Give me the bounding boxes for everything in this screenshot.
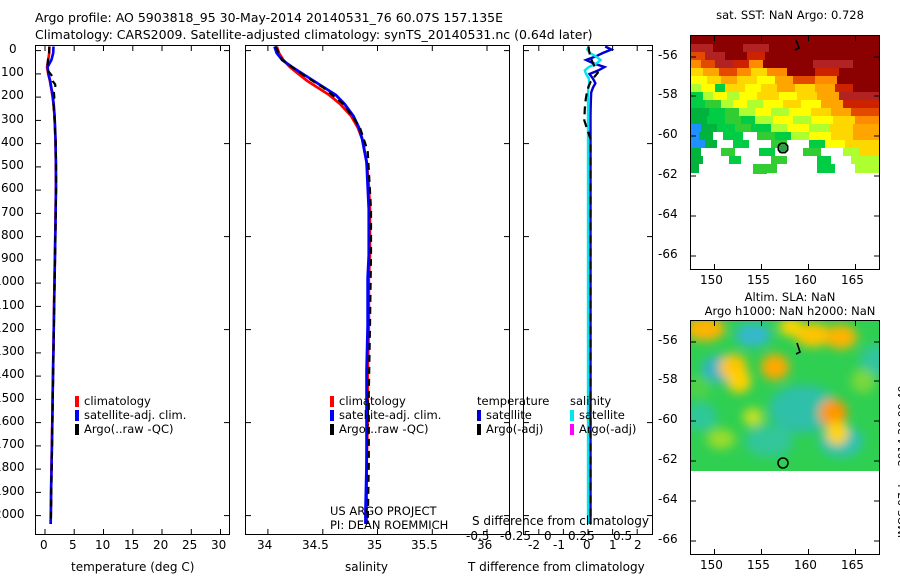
depth-tick-900: 900 <box>1 251 24 265</box>
sla-lat-tick-58: -58 <box>658 372 678 386</box>
legend-label-salinity-argo-adj: Argo(-adj) <box>579 422 636 436</box>
swatch-salinity-argo-adj-icon <box>570 424 574 435</box>
sst-lat-tick-60: -60 <box>658 127 678 141</box>
depth-tick-1000: 1000 <box>0 274 25 288</box>
sla-lat-tick-56: -56 <box>658 333 678 347</box>
sdiff-tick-n025: -0.25 <box>500 529 531 543</box>
temperature-profile-plot <box>36 46 229 534</box>
depth-tick-0: 0 <box>9 42 17 56</box>
legend-item-temperature-argo-adj: Argo(-adj) <box>477 422 549 436</box>
sla-map-title-line1: Altim. SLA: NaN <box>695 290 885 304</box>
swatch-satellite-adj-icon <box>75 410 79 421</box>
legend-item-salinity-argo-adj: Argo(-adj) <box>570 422 636 436</box>
salinity-axis-label: salinity <box>345 560 388 574</box>
swatch-climatology-icon <box>75 396 79 407</box>
salinity-tick-35: 35 <box>367 538 382 552</box>
swatch-temperature-argo-adj-icon <box>477 424 481 435</box>
sst-map-panel[interactable] <box>690 35 880 270</box>
depth-tick-1500: 1500 <box>0 391 25 405</box>
legend-item-satellite-adj-salinity: satellite-adj. clim. <box>330 408 441 422</box>
depth-tick-200: 200 <box>1 88 24 102</box>
legend-title-salinity: salinity <box>570 394 636 408</box>
sla-lon-tick-150: 150 <box>700 558 723 572</box>
depth-tick-1600: 1600 <box>0 414 25 428</box>
sla-lat-tick-66: -66 <box>658 532 678 546</box>
depth-tick-100: 100 <box>1 65 24 79</box>
swatch-argo-raw-icon <box>75 424 79 435</box>
sla-lon-tick-165: 165 <box>841 558 864 572</box>
temperature-profile-panel[interactable] <box>35 45 230 535</box>
legend-label-satellite-adj: satellite-adj. clim. <box>84 408 186 422</box>
sst-lon-tick-165: 165 <box>841 273 864 287</box>
depth-tick-1900: 1900 <box>0 484 25 498</box>
sst-lat-tick-64: -64 <box>658 207 678 221</box>
salinity-tick-345: 34.5 <box>302 538 329 552</box>
legend-label-climatology: climatology <box>84 394 151 408</box>
sst-lon-tick-150: 150 <box>700 273 723 287</box>
depth-tick-1200: 1200 <box>0 321 25 335</box>
swatch-salinity-satellite-icon <box>570 410 574 421</box>
salinity-profile-plot <box>246 46 509 534</box>
sla-map-panel[interactable] <box>690 320 880 555</box>
sdiff-tick-025: 0.25 <box>568 529 595 543</box>
sst-map-plot <box>691 36 879 269</box>
difference-legend-temperature: temperature satellite Argo(-adj) <box>477 394 549 436</box>
temperature-difference-axis-label: T difference from climatology <box>468 560 645 574</box>
temperature-axis-label: temperature (deg C) <box>71 560 194 574</box>
sla-lat-tick-62: -62 <box>658 452 678 466</box>
legend-title-temperature: temperature <box>477 394 549 408</box>
tdiff-tick-1: 1 <box>609 538 617 552</box>
tdiff-tick-2: 2 <box>634 538 642 552</box>
legend-label-climatology: climatology <box>339 394 406 408</box>
salinity-tick-34: 34 <box>257 538 272 552</box>
legend-label-temperature-argo-adj: Argo(-adj) <box>486 422 543 436</box>
legend-item-climatology-salinity: climatology <box>330 394 441 408</box>
temperature-tick-30: 30 <box>211 538 226 552</box>
swatch-temperature-satellite-icon <box>477 410 481 421</box>
swatch-argo-raw-icon <box>330 424 334 435</box>
legend-label-salinity-satellite: satellite <box>579 408 625 422</box>
depth-tick-700: 700 <box>1 205 24 219</box>
footer-timestamp: IMOS 07-Jun-2014 20:00:40 <box>896 385 900 538</box>
temperature-tick-20: 20 <box>153 538 168 552</box>
difference-profile-plot <box>524 46 652 534</box>
salinity-difference-axis-label: S difference from climatology <box>472 514 649 528</box>
swatch-climatology-icon <box>330 396 334 407</box>
depth-tick-800: 800 <box>1 228 24 242</box>
sst-lon-tick-160: 160 <box>794 273 817 287</box>
sst-lat-tick-56: -56 <box>658 48 678 62</box>
swatch-satellite-adj-icon <box>330 410 334 421</box>
tdiff-tick-0: 0 <box>583 538 591 552</box>
difference-legend-salinity: salinity satellite Argo(-adj) <box>570 394 636 436</box>
depth-tick-600: 600 <box>1 181 24 195</box>
temperature-tick-10: 10 <box>95 538 110 552</box>
sst-lat-tick-62: -62 <box>658 167 678 181</box>
sla-map-plot <box>691 321 879 554</box>
temperature-tick-0: 0 <box>40 538 48 552</box>
depth-tick-1300: 1300 <box>0 344 25 358</box>
difference-profile-panel[interactable] <box>523 45 653 535</box>
depth-tick-1800: 1800 <box>0 460 25 474</box>
sst-lat-tick-58: -58 <box>658 87 678 101</box>
temperature-tick-5: 5 <box>69 538 77 552</box>
legend-label-argo-raw: Argo(..raw -QC) <box>84 422 174 436</box>
legend-label-argo-raw: Argo(..raw -QC) <box>339 422 429 436</box>
legend-label-satellite-adj: satellite-adj. clim. <box>339 408 441 422</box>
temperature-legend: climatology satellite-adj. clim. Argo(..… <box>75 394 186 436</box>
tdiff-tick-n2: -2 <box>528 538 540 552</box>
salinity-profile-panel[interactable] <box>245 45 510 535</box>
legend-item-salinity-satellite: satellite <box>570 408 636 422</box>
sla-lat-tick-64: -64 <box>658 492 678 506</box>
depth-tick-1100: 1100 <box>0 298 25 312</box>
legend-item-satellite-adj: satellite-adj. clim. <box>75 408 186 422</box>
project-credit-line2: PI: DEAN ROEMMICH <box>330 518 448 532</box>
salinity-legend: climatology satellite-adj. clim. Argo(..… <box>330 394 441 436</box>
sdiff-tick-n05: -0.5 <box>466 529 489 543</box>
legend-item-argo-raw-salinity: Argo(..raw -QC) <box>330 422 441 436</box>
depth-tick-500: 500 <box>1 158 24 172</box>
tdiff-tick-n1: -1 <box>553 538 565 552</box>
temperature-tick-15: 15 <box>124 538 139 552</box>
legend-item-climatology: climatology <box>75 394 186 408</box>
depth-tick-2000: 2000 <box>0 507 25 521</box>
sla-lat-tick-60: -60 <box>658 412 678 426</box>
legend-label-temperature-satellite: satellite <box>486 408 532 422</box>
sst-map-title: sat. SST: NaN Argo: 0.728 <box>695 8 885 22</box>
sla-lon-tick-155: 155 <box>747 558 770 572</box>
sst-lat-tick-66: -66 <box>658 247 678 261</box>
depth-tick-1700: 1700 <box>0 437 25 451</box>
sdiff-tick-0: 0 <box>544 529 552 543</box>
depth-tick-1400: 1400 <box>0 367 25 381</box>
legend-item-temperature-satellite: satellite <box>477 408 549 422</box>
page-title-line2: Climatology: CARS2009. Satellite-adjuste… <box>35 27 592 42</box>
temperature-tick-25: 25 <box>182 538 197 552</box>
depth-tick-400: 400 <box>1 135 24 149</box>
sla-map-title-line2: Argo h1000: NaN h2000: NaN <box>670 304 900 318</box>
sst-lon-tick-155: 155 <box>747 273 770 287</box>
salinity-tick-355: 35.5 <box>411 538 438 552</box>
depth-tick-300: 300 <box>1 112 24 126</box>
sla-lon-tick-160: 160 <box>794 558 817 572</box>
legend-item-argo-raw: Argo(..raw -QC) <box>75 422 186 436</box>
project-credit-line1: US ARGO PROJECT <box>330 504 437 518</box>
page-title-line1: Argo profile: AO 5903818_95 30-May-2014 … <box>35 10 503 25</box>
